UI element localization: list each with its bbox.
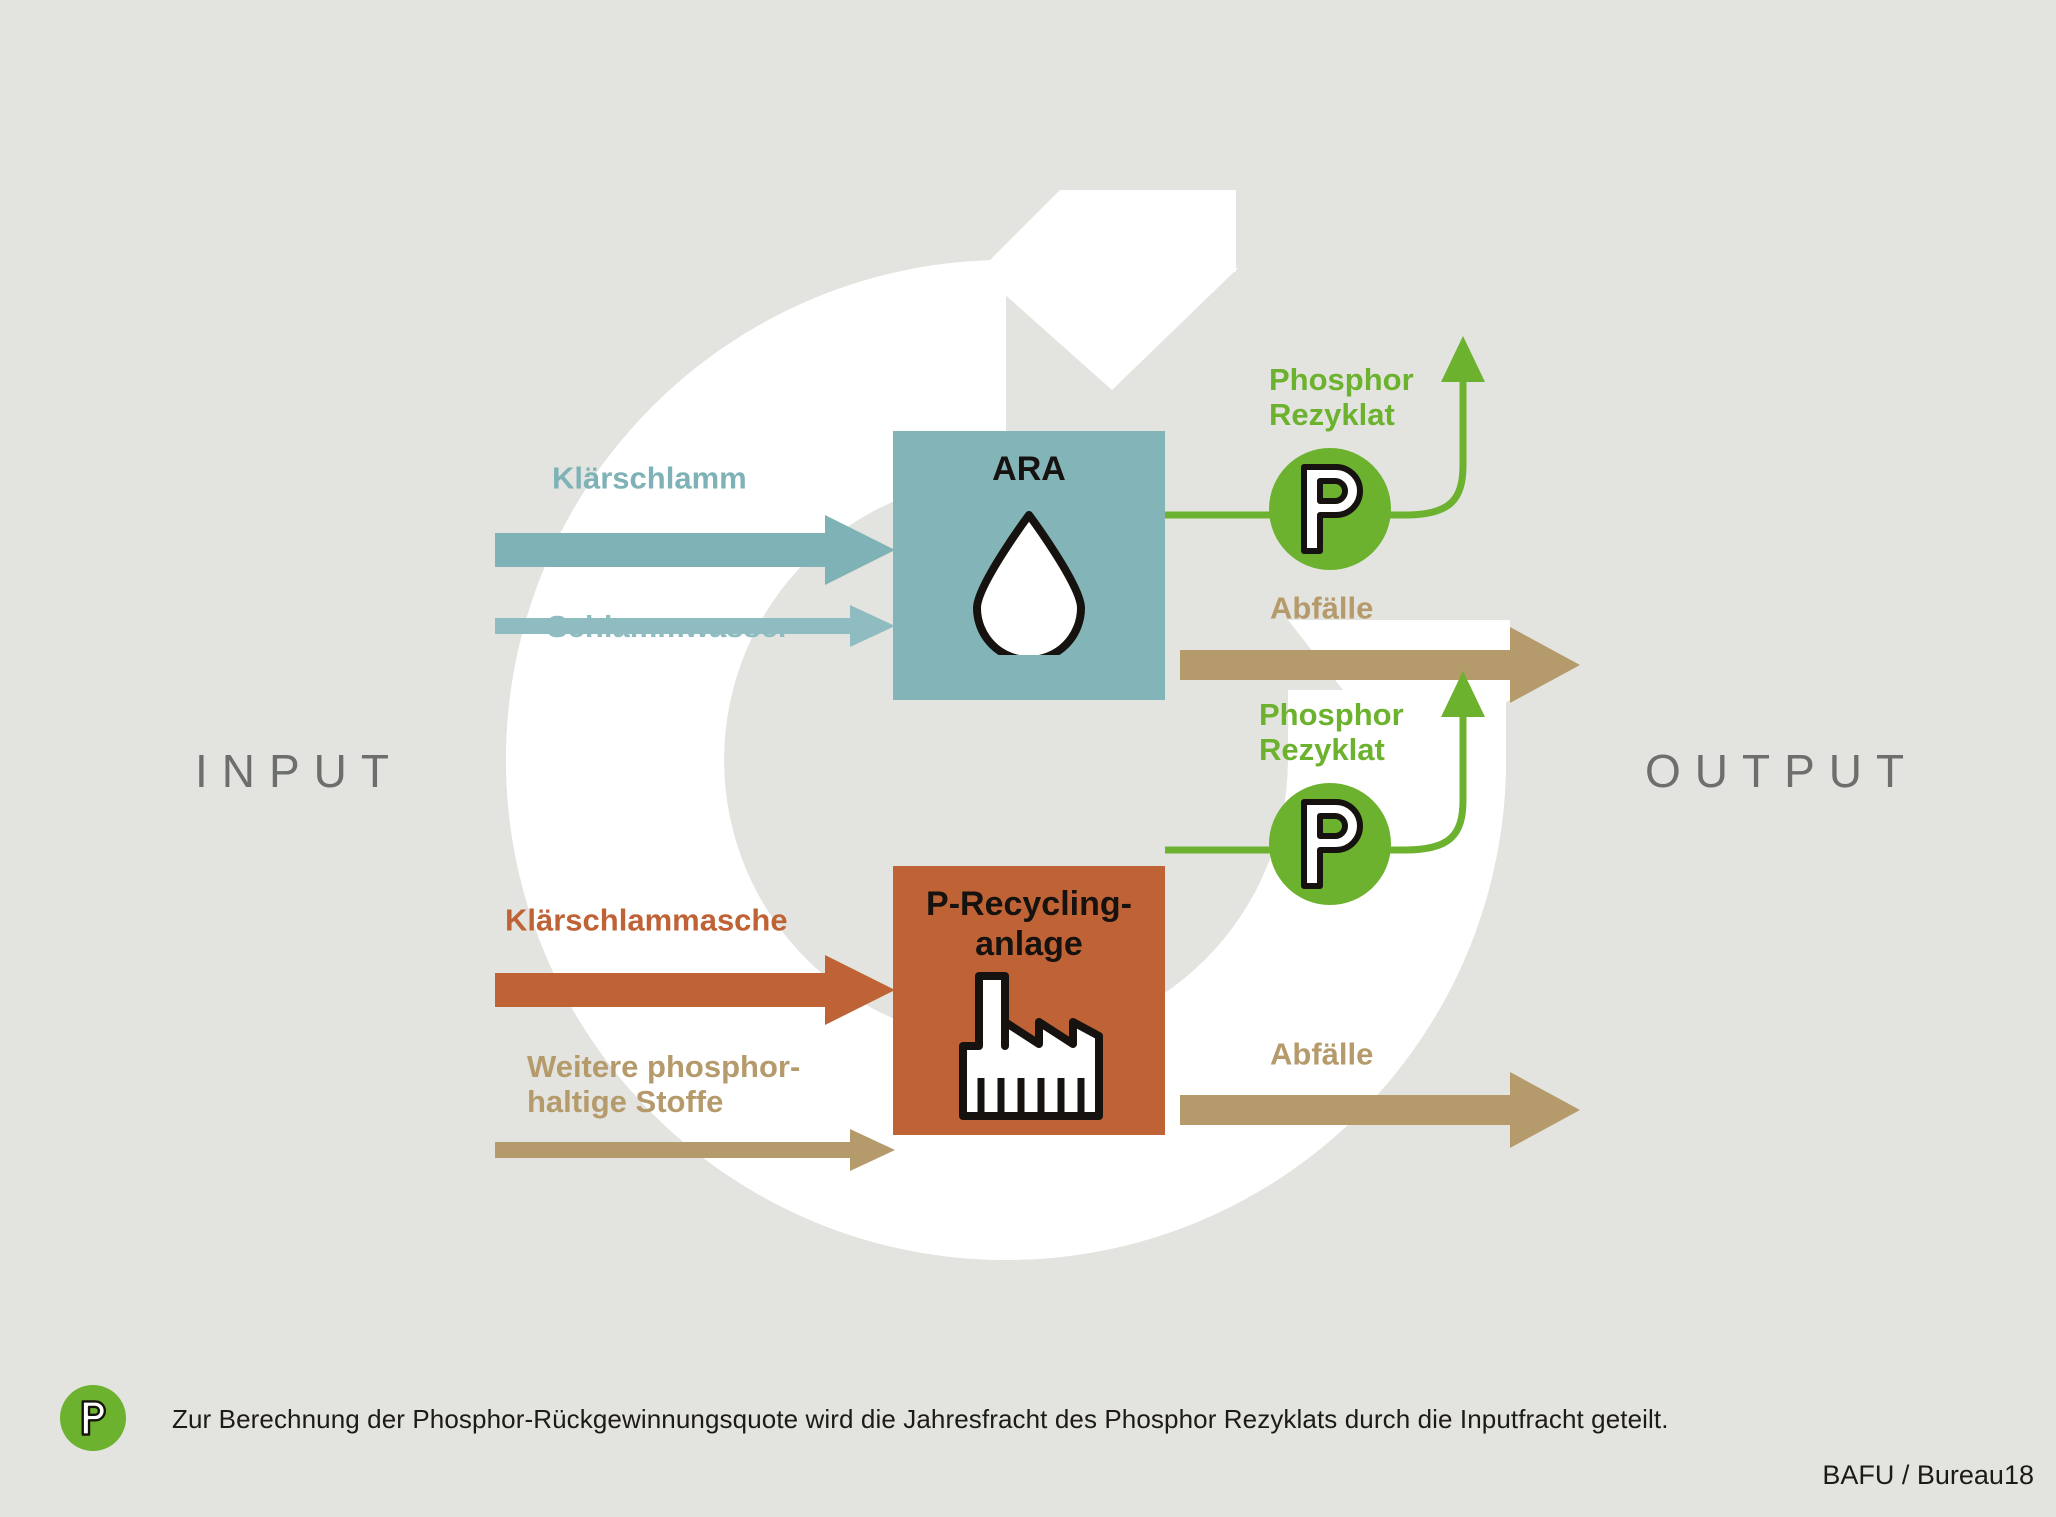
flow-label-phosphor-rezyklat-prec: Phosphor Rezyklat [1259, 698, 1404, 767]
infographic-canvas: INPUT OUTPUT Klärschlamm Schlammwasser A… [0, 0, 2056, 1517]
process-box-p-recycling[interactable]: P-Recycling- anlage [893, 866, 1165, 1135]
letter-p-icon [1292, 461, 1368, 557]
factory-icon [949, 970, 1109, 1120]
flow-label-weitere-stoffe: Weitere phosphor- haltige Stoffe [527, 1050, 800, 1119]
flow-label-abfaelle-ara: Abfälle [1270, 591, 1373, 626]
p-badge-p-recycling [1269, 783, 1391, 905]
footer-caption: Zur Berechnung der Phosphor-Rückgewinnun… [172, 1404, 1669, 1435]
flow-arrow-schlammwasser [495, 500, 895, 700]
flow-label-klaerschlamm: Klärschlamm [552, 461, 747, 496]
process-title-p-recycling: P-Recycling- anlage [926, 884, 1132, 964]
letter-p-icon [1292, 796, 1368, 892]
output-label: OUTPUT [1645, 744, 1918, 798]
flow-arrow-abfaelle-prec [1180, 1070, 1580, 1150]
flow-arrow-klaerschlammasche [495, 955, 895, 1025]
flow-label-schlammwasser: Schlammwasser [547, 610, 790, 645]
letter-p-icon [78, 1397, 108, 1439]
credit-label: BAFU / Bureau18 [1822, 1460, 2034, 1491]
flow-label-phosphor-rezyklat-ara: Phosphor Rezyklat [1269, 363, 1414, 432]
flow-arrow-weitere-stoffe [495, 1120, 895, 1180]
flow-label-klaerschlammasche: Klärschlammasche [505, 903, 788, 938]
process-title-ara: ARA [992, 449, 1066, 489]
water-drop-icon [969, 505, 1089, 655]
footer-p-badge [60, 1385, 126, 1451]
input-label: INPUT [195, 744, 403, 798]
flow-label-abfaelle-prec: Abfälle [1270, 1037, 1373, 1072]
p-badge-ara [1269, 448, 1391, 570]
process-box-ara[interactable]: ARA [893, 431, 1165, 700]
